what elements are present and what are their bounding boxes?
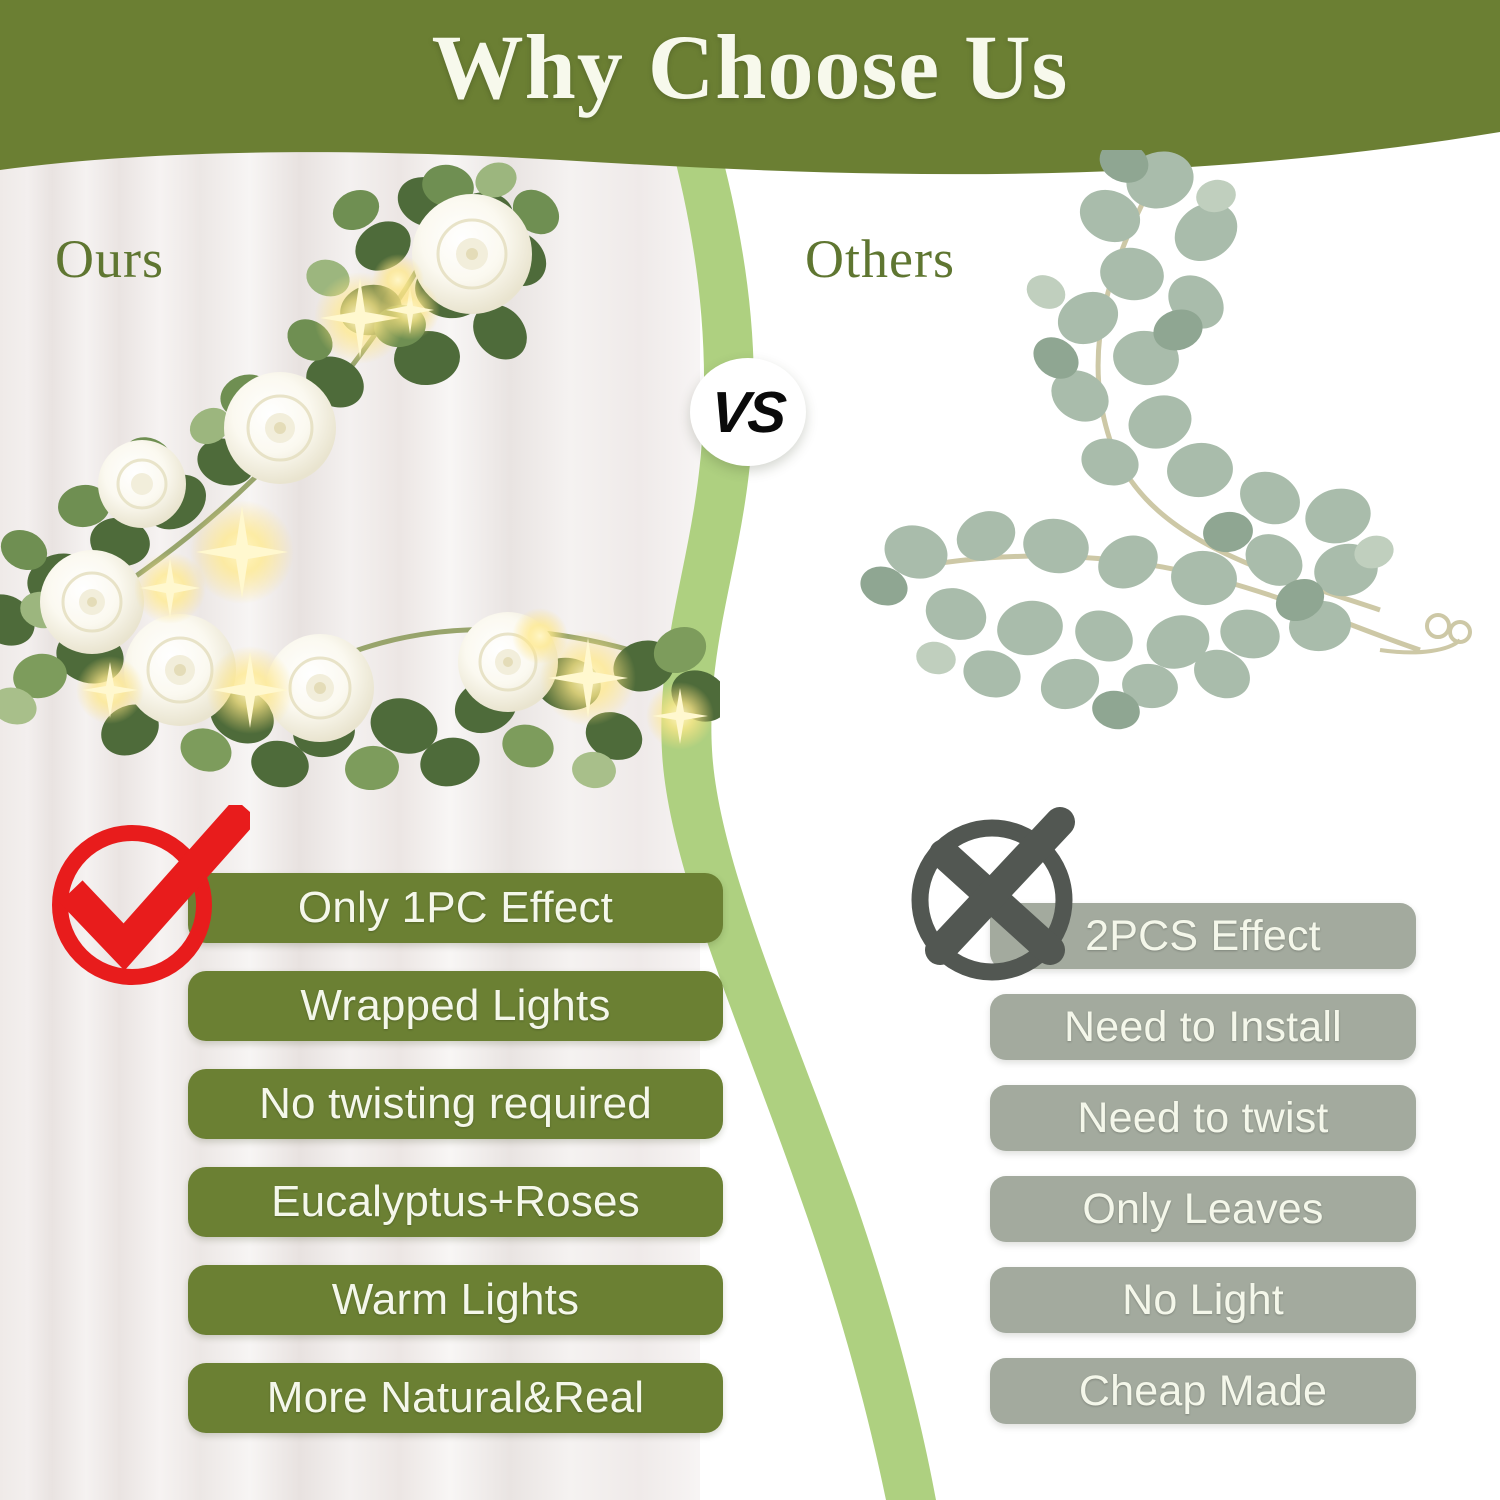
list-item[interactable]: No Light — [990, 1267, 1416, 1333]
list-item[interactable]: Only Leaves — [990, 1176, 1416, 1242]
list-item[interactable]: Wrapped Lights — [188, 971, 723, 1041]
vs-badge: VS — [690, 358, 806, 466]
list-item[interactable]: Cheap Made — [990, 1358, 1416, 1424]
check-circle-icon — [40, 805, 250, 995]
page-title: Why Choose Us — [0, 14, 1500, 120]
list-item[interactable]: Eucalyptus+Roses — [188, 1167, 723, 1237]
list-item[interactable]: Only 1PC Effect — [188, 873, 723, 943]
list-item[interactable]: Need to Install — [990, 994, 1416, 1060]
ours-feature-list: Only 1PC Effect Wrapped Lights No twisti… — [188, 873, 723, 1433]
vs-label: VS — [709, 379, 787, 446]
ours-label: Ours — [55, 228, 164, 290]
list-item[interactable]: Warm Lights — [188, 1265, 723, 1335]
list-item[interactable]: More Natural&Real — [188, 1363, 723, 1433]
list-item[interactable]: Need to twist — [990, 1085, 1416, 1151]
cross-circle-icon — [900, 800, 1100, 990]
list-item[interactable]: No twisting required — [188, 1069, 723, 1139]
infographic-stage: Why Choose Us Ours Others VS Only 1PC Ef… — [0, 0, 1500, 1500]
others-label: Others — [805, 228, 955, 290]
